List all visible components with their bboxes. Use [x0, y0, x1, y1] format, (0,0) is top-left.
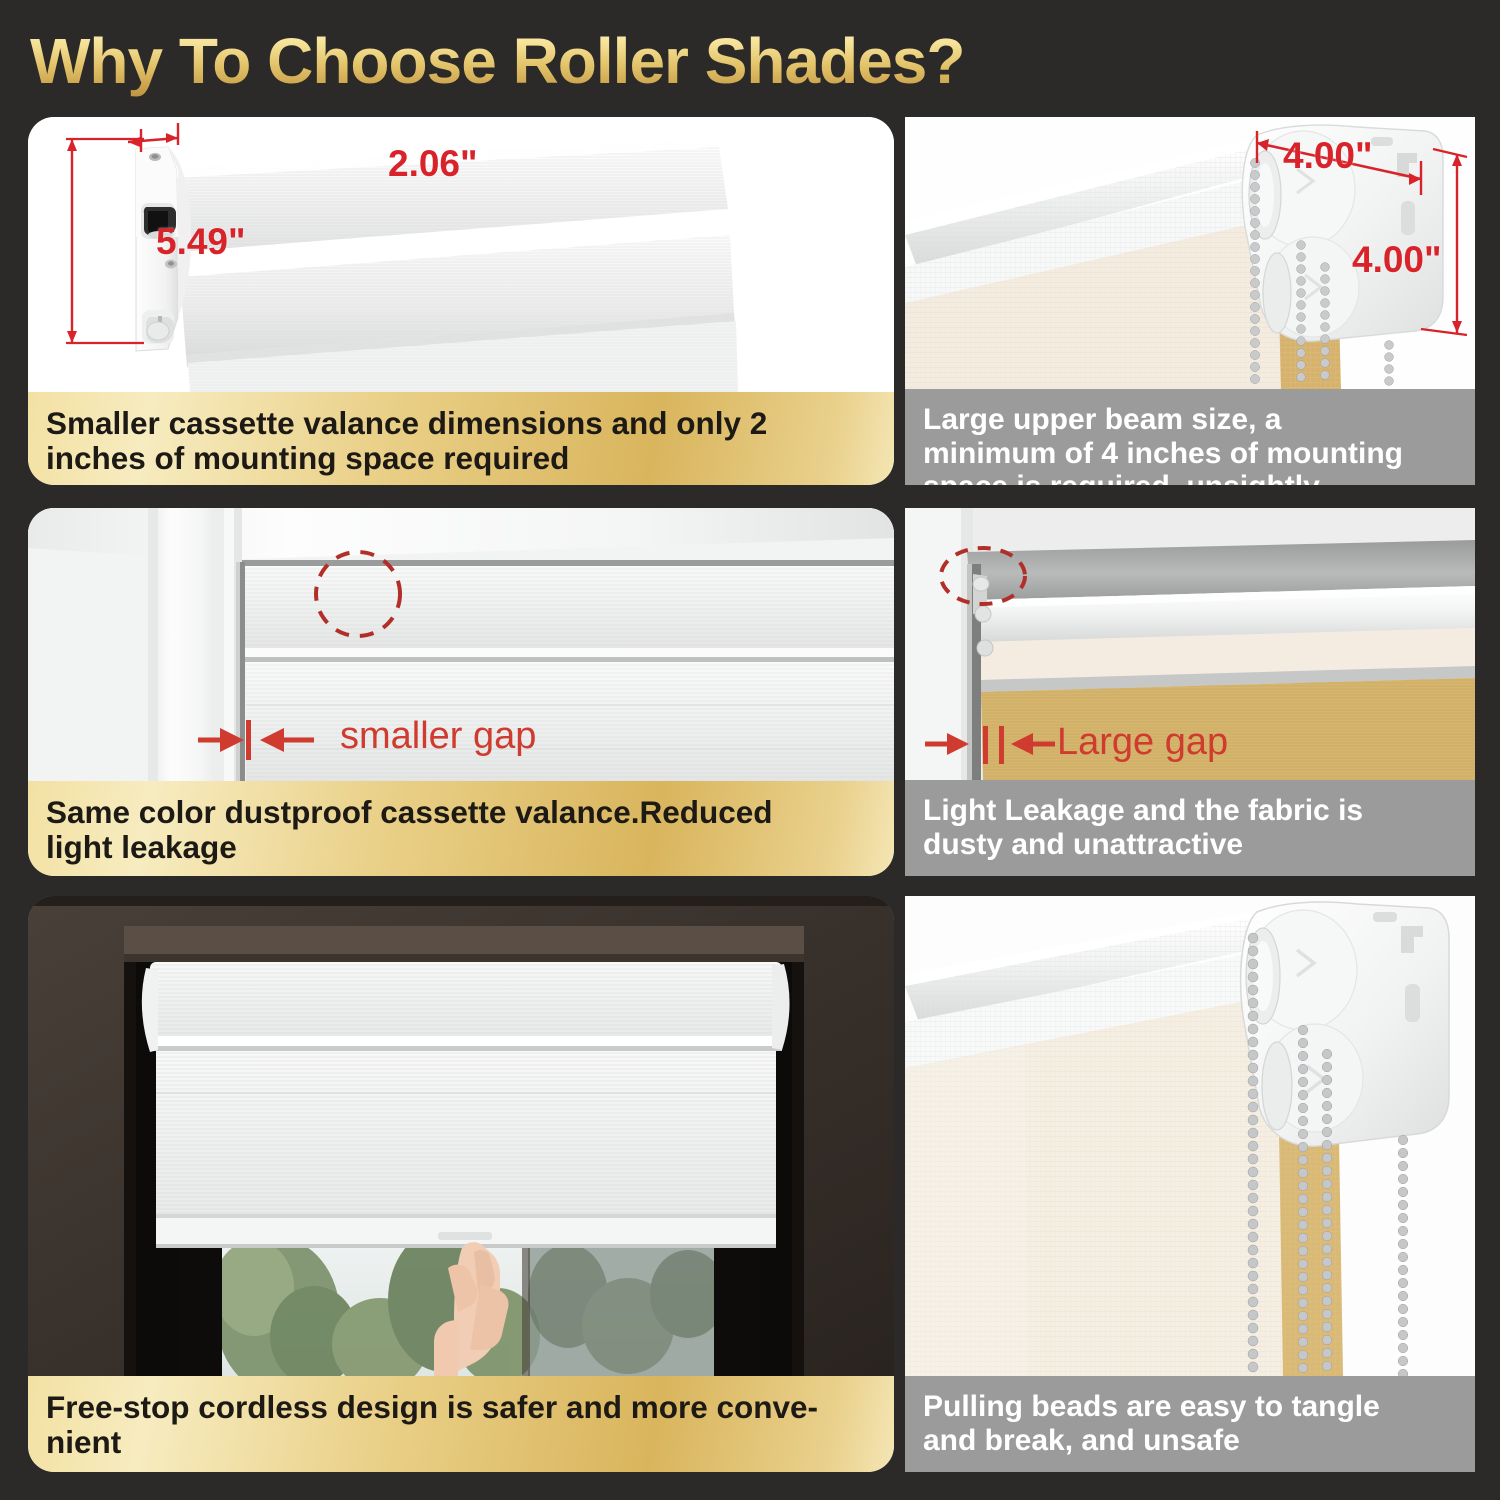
dimension-label-height: 5.49": [156, 221, 246, 263]
caption-line: inches of mounting space required: [46, 441, 767, 476]
gap-annotation-label: Large gap: [1057, 721, 1228, 764]
panel-top-right-photo: 4.00" 4.00": [905, 117, 1475, 389]
panel-bottom-right: Pulling beads are easy to tangle and bre…: [905, 896, 1475, 1472]
caption-line: Same color dustproof cassette valance.Re…: [46, 795, 773, 830]
panel-middle-left-photo: smaller gap: [28, 508, 894, 781]
caption-line: Free-stop cordless design is safer and m…: [46, 1390, 818, 1425]
dimension-label-height: 4.00": [1352, 239, 1442, 281]
caption-line: space is required, unsightly: [923, 470, 1403, 485]
panel-bottom-right-photo: [905, 896, 1475, 1376]
caption-line: Smaller cassette valance dimensions and …: [46, 406, 767, 441]
panel-bottom-left-caption: Free-stop cordless design is safer and m…: [28, 1376, 894, 1472]
caption-line: Large upper beam size, a: [923, 403, 1403, 437]
page-title: Why To Choose Roller Shades?: [30, 22, 1130, 100]
beaded-roller-shade-illustration: [905, 896, 1475, 1376]
gap-annotation-label: smaller gap: [340, 715, 536, 758]
panel-middle-left-caption: Same color dustproof cassette valance.Re…: [28, 781, 894, 876]
dimension-label-width: 4.00": [1283, 135, 1373, 177]
caption-line: Light Leakage and the fabric is: [923, 794, 1363, 828]
caption-line: dusty and unattractive: [923, 828, 1363, 862]
caption-line: and break, and unsafe: [923, 1424, 1380, 1458]
room-window-shade-scene: [28, 896, 894, 1376]
caption-line: Pulling beads are easy to tangle: [923, 1390, 1380, 1424]
dimension-label-width: 2.06": [388, 143, 478, 185]
panel-bottom-left: Free-stop cordless design is safer and m…: [28, 896, 894, 1472]
infographic-root: Why To Choose Roller Shades?: [0, 0, 1500, 1500]
panel-middle-right: Large gap Light Leakage and the fabric i…: [905, 508, 1475, 876]
panel-top-left: 2.06" 5.49" Smaller cassette valance dim…: [28, 117, 894, 485]
panel-bottom-left-photo: [28, 896, 894, 1376]
panel-top-right: 4.00" 4.00" Large upper beam size, a min…: [905, 117, 1475, 485]
panel-top-left-caption: Smaller cassette valance dimensions and …: [28, 392, 894, 485]
panel-top-right-caption: Large upper beam size, a minimum of 4 in…: [905, 389, 1475, 485]
caption-line: minimum of 4 inches of mounting: [923, 437, 1403, 471]
caption-line: light leakage: [46, 830, 773, 865]
panel-top-left-photo: 2.06" 5.49": [28, 117, 894, 392]
panel-middle-left: smaller gap Same color dustproof cassett…: [28, 508, 894, 876]
panel-middle-right-caption: Light Leakage and the fabric is dusty an…: [905, 780, 1475, 876]
caption-line: nient: [46, 1425, 818, 1460]
panel-bottom-right-caption: Pulling beads are easy to tangle and bre…: [905, 1376, 1475, 1472]
panel-middle-right-photo: Large gap: [905, 508, 1475, 780]
